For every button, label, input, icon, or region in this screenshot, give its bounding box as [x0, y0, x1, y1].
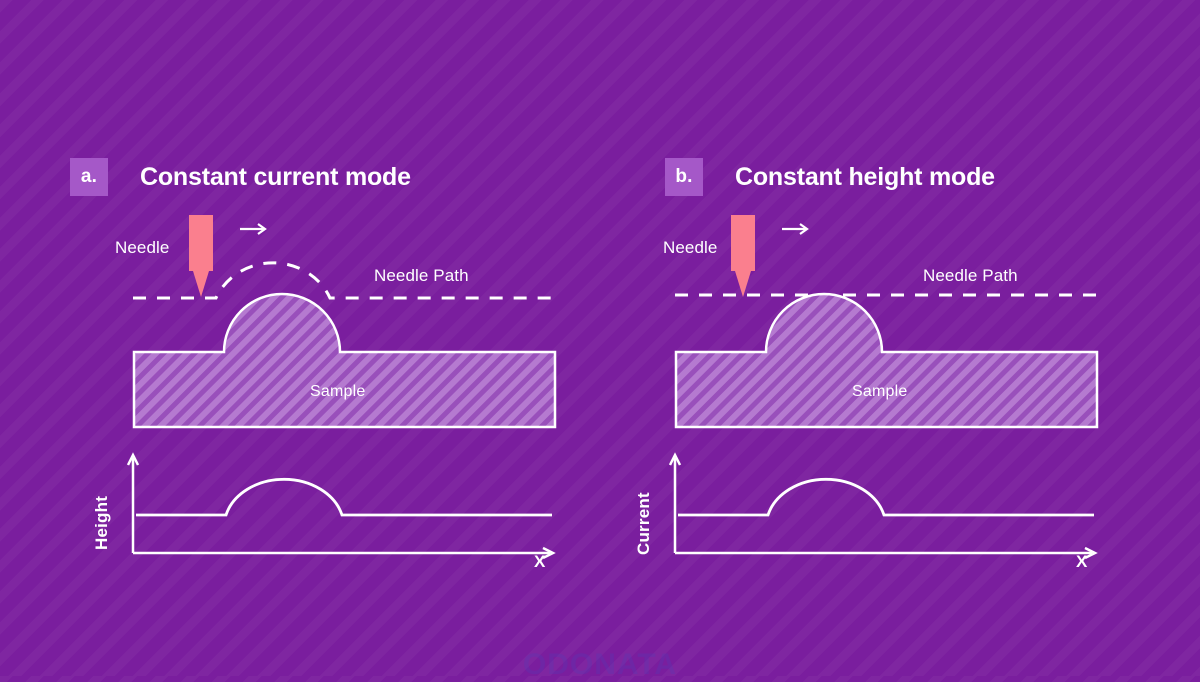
panel-b-scan-arrow	[782, 224, 807, 234]
panel-b-signal-trace	[678, 479, 1094, 515]
panel-a-sample-label: Sample	[310, 383, 365, 401]
needle-body	[189, 215, 213, 271]
needle-tip	[193, 271, 209, 297]
panel-b-needle-path-label: Needle Path	[923, 266, 1018, 286]
needle-body	[731, 215, 755, 271]
panel-a-x-axis-label: X	[534, 552, 545, 572]
needle-tip	[735, 271, 751, 297]
panel-a-signal-trace	[136, 479, 552, 515]
panel-a-y-axis-label: Height	[92, 496, 112, 550]
panel-a-scan-arrow	[240, 224, 265, 234]
panel-b-title: Constant height mode	[735, 163, 995, 192]
panel-a-title: Constant current mode	[140, 163, 411, 192]
panel-a-needle-path-label: Needle Path	[374, 266, 469, 286]
panel-b-header: b. Constant height mode	[665, 158, 995, 196]
panel-b-axes	[670, 455, 1095, 558]
panel-a-badge: a.	[70, 158, 108, 196]
diagram-stage: a. Constant current mode Needle Needle P…	[0, 0, 1200, 676]
panel-a-needle-icon	[189, 215, 213, 297]
panel-a-needle-label: Needle	[115, 238, 169, 258]
panel-b-y-axis-label: Current	[634, 492, 654, 555]
panel-b-graphics	[595, 0, 1195, 676]
panel-constant-current-mode: a. Constant current mode Needle Needle P…	[0, 0, 600, 676]
panel-b-sample-label: Sample	[852, 383, 907, 401]
panel-a-header: a. Constant current mode	[70, 158, 411, 196]
panel-b-badge: b.	[665, 158, 703, 196]
panel-a-sample-shape	[134, 294, 555, 427]
panel-b-sample-shape	[676, 294, 1097, 427]
panel-b-x-axis-label: X	[1076, 552, 1087, 572]
panel-b-needle-label: Needle	[663, 238, 717, 258]
panel-constant-height-mode: b. Constant height mode Needle Needle Pa…	[595, 0, 1195, 676]
panel-a-graphics	[0, 0, 600, 676]
panel-b-needle-icon	[731, 215, 755, 297]
panel-a-axes	[128, 455, 553, 558]
watermark: ODONATA	[0, 648, 1200, 682]
